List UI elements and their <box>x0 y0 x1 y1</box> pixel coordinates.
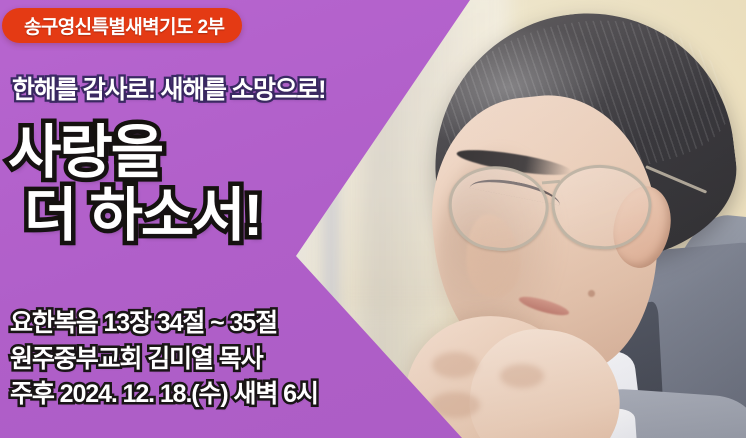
cheek-mole <box>588 290 595 297</box>
church-and-speaker: 원주중부교회 김미열 목사 <box>10 342 318 378</box>
knuckle <box>500 364 544 388</box>
right-lens <box>548 162 654 253</box>
left-lens <box>444 161 553 257</box>
poster-title-line1: 사랑을 <box>8 120 162 185</box>
event-badge-label: 송구영신특별새벽기도 2부 <box>24 12 224 39</box>
knuckle <box>432 352 478 378</box>
poster-title-line2: 더 하소서! <box>8 185 261 248</box>
event-badge: 송구영신특별새벽기도 2부 <box>2 8 242 43</box>
scripture-reference: 요한복음 13장 34절 ~ 35절 <box>10 306 318 342</box>
sermon-poster: 송구영신특별새벽기도 2부 한해를 감사로! 새해를 소망으로! 사랑을 더 하… <box>0 0 746 438</box>
poster-subtitle: 한해를 감사로! 새해를 소망으로! <box>12 70 325 106</box>
sermon-info: 요한복음 13장 34절 ~ 35절 원주중부교회 김미열 목사 주후 2024… <box>10 306 318 413</box>
service-datetime: 주후 2024. 12. 18.(수) 새벽 6시 <box>10 377 318 413</box>
poster-title: 사랑을 더 하소서! <box>8 122 261 247</box>
